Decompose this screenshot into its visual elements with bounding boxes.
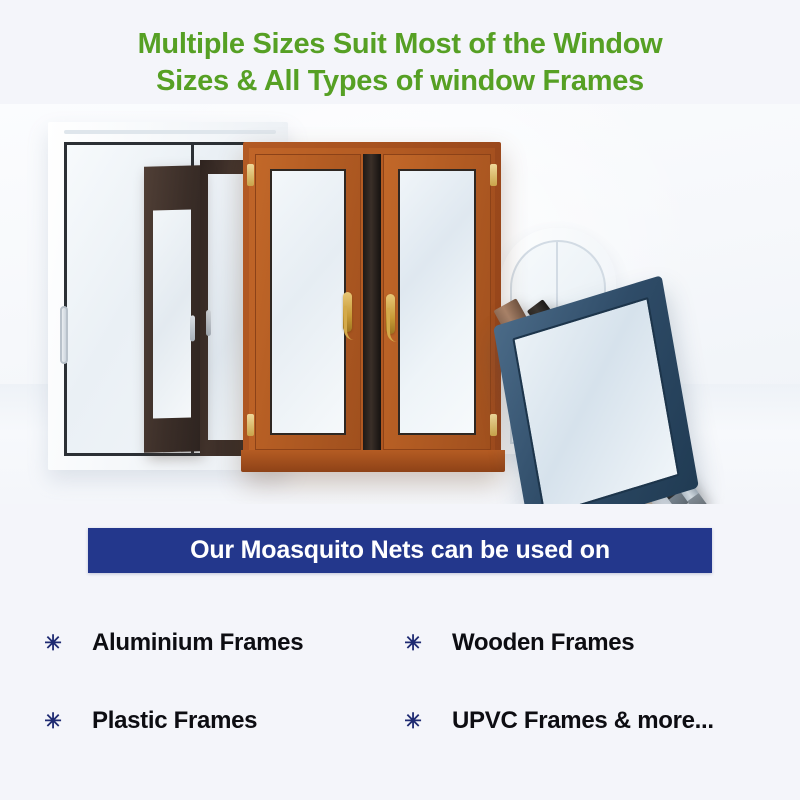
dark-casement-handle-right — [206, 310, 211, 336]
wooden-double-casement — [243, 142, 501, 472]
list-item-upvc-frames: ✳ UPVC Frames & more... — [400, 682, 780, 760]
wood-handle-right — [386, 294, 395, 334]
wood-hinge-bottom-left — [247, 414, 254, 436]
list-item-label: UPVC Frames & more... — [452, 707, 714, 735]
dark-casement-handle-left — [190, 315, 195, 341]
white-door-handle — [60, 306, 68, 364]
asterisk-icon: ✳ — [400, 633, 426, 654]
frame-type-list: ✳ Aluminium Frames ✳ Wooden Frames ✳ Pla… — [40, 604, 780, 760]
list-item-label: Wooden Frames — [452, 629, 634, 657]
dark-casement-open-glass — [153, 209, 191, 418]
page-title-line-2: Sizes & All Types of window Frames — [40, 63, 760, 100]
dark-casement-open-leaf — [144, 165, 200, 453]
asterisk-icon: ✳ — [40, 633, 66, 654]
white-door-top-rail — [64, 130, 276, 134]
list-item-plastic-frames: ✳ Plastic Frames — [40, 682, 400, 760]
list-item-aluminium-frames: ✳ Aluminium Frames — [40, 604, 400, 682]
wood-hinge-top-left — [247, 164, 254, 186]
usage-banner: Our Moasquito Nets can be used on — [88, 528, 712, 573]
wood-handle-left — [343, 292, 352, 332]
wood-right-leaf — [383, 154, 491, 450]
list-item-label: Aluminium Frames — [92, 629, 303, 657]
wood-right-glass — [398, 169, 476, 435]
page-title-line-1: Multiple Sizes Suit Most of the Window — [40, 26, 760, 63]
wood-hinge-bottom-right — [490, 414, 497, 436]
blue-frame-glass — [512, 297, 679, 504]
wood-mullion — [363, 154, 381, 450]
asterisk-icon: ✳ — [400, 711, 426, 732]
asterisk-icon: ✳ — [40, 711, 66, 732]
list-item-wooden-frames: ✳ Wooden Frames — [400, 604, 780, 682]
list-item-label: Plastic Frames — [92, 707, 257, 735]
wood-sill — [241, 450, 505, 472]
wood-left-glass — [270, 169, 346, 435]
wood-hinge-top-right — [490, 164, 497, 186]
product-image — [0, 104, 800, 504]
usage-banner-text: Our Moasquito Nets can be used on — [190, 536, 610, 565]
page-title: Multiple Sizes Suit Most of the Window S… — [40, 26, 760, 100]
